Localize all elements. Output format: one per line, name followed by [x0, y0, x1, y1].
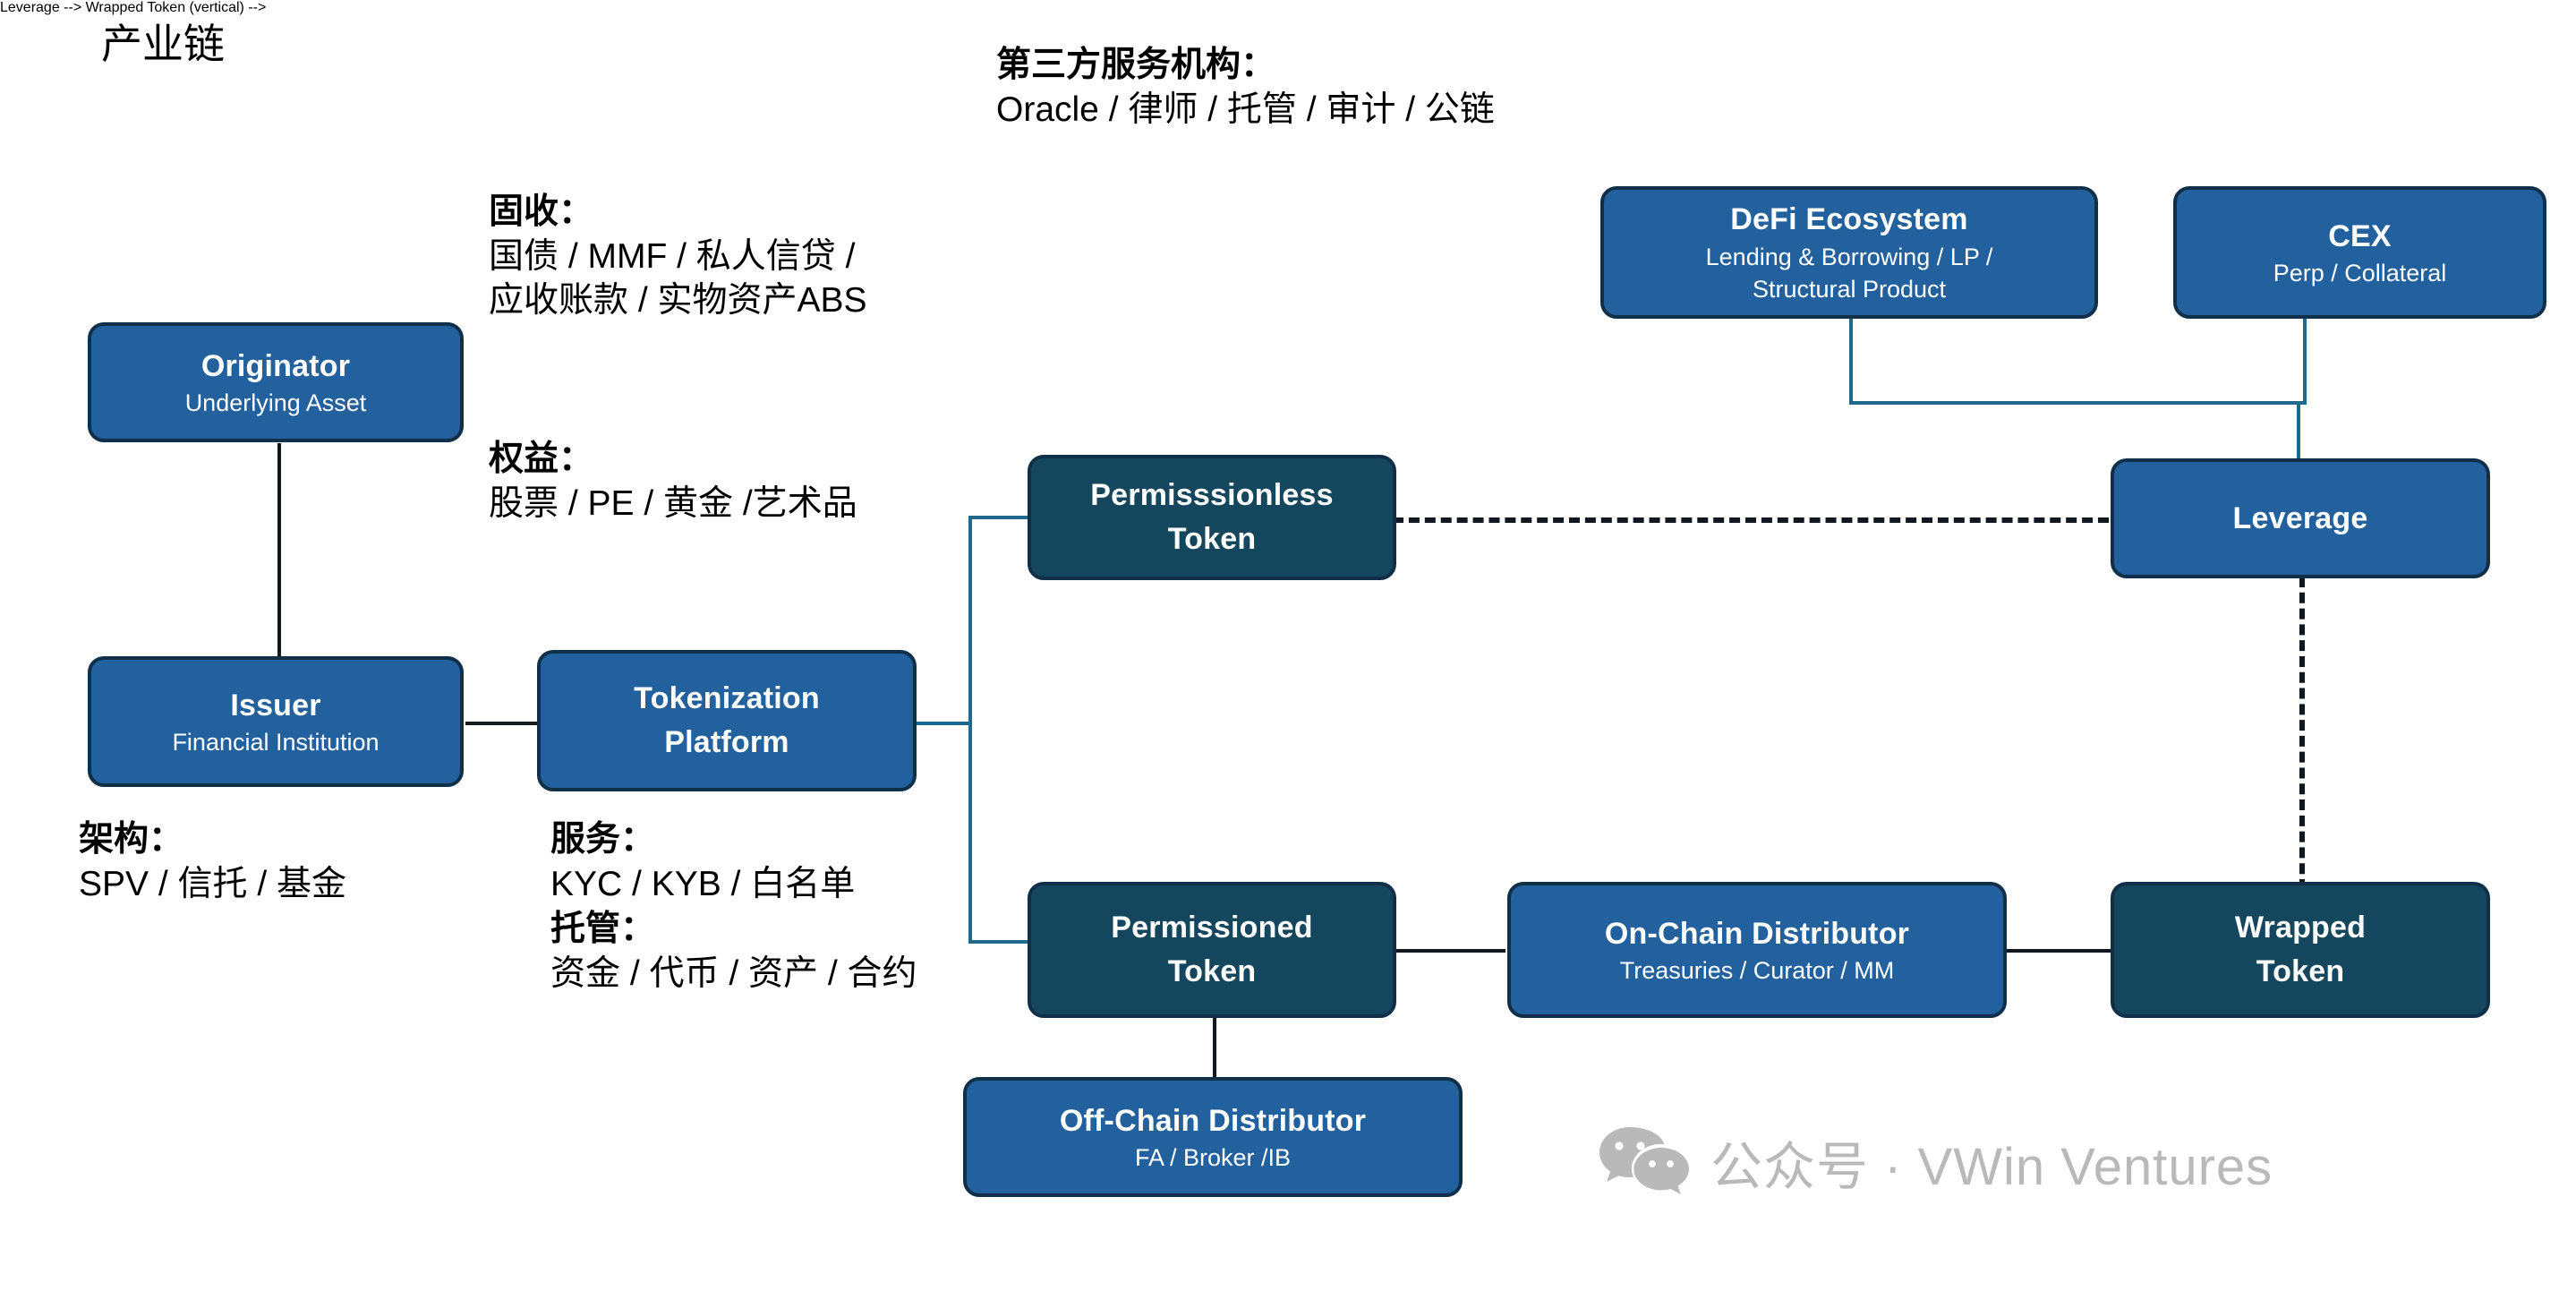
annotation-equity: 权益： 股票 / PE / 黄金 /艺术品 — [489, 437, 865, 526]
node-defi-ecosystem-subtitle-line1: Lending & Borrowing / LP / — [1706, 242, 1993, 273]
edge-defi-down — [1849, 315, 1853, 403]
node-originator[interactable]: Originator Underlying Asset — [88, 322, 464, 442]
edge-cex-down — [2303, 315, 2307, 403]
annotation-custody-body: 资金 / 代币 / 资产 / 合约 — [550, 952, 944, 996]
node-tokenization-platform-title-line1: Tokenization — [634, 677, 820, 721]
edge-issuer-to-tokenization — [465, 722, 546, 725]
node-wrapped-token[interactable]: Wrapped Token — [2111, 882, 2490, 1018]
node-on-chain-distributor[interactable]: On-Chain Distributor Treasuries / Curato… — [1507, 882, 2007, 1018]
node-cex-subtitle: Perp / Collateral — [2273, 258, 2447, 289]
node-cex-title: CEX — [2328, 217, 2392, 256]
page-title: 产业链 — [101, 21, 225, 68]
annotation-fixed-income-heading: 固收： — [489, 190, 883, 235]
node-tokenization-platform[interactable]: Tokenization Platform — [537, 650, 917, 791]
edge-permissionless-to-leverage — [1393, 517, 2109, 523]
edge-bracket-to-leverage — [2297, 401, 2300, 460]
edge-permissioned-to-offchain — [1213, 1015, 1216, 1080]
annotation-structure-heading: 架构： — [79, 817, 499, 862]
annotation-service: 服务： KYC / KYB / 白名单 — [550, 817, 944, 906]
node-originator-title: Originator — [201, 346, 350, 386]
node-leverage[interactable]: Leverage — [2111, 458, 2490, 578]
node-issuer[interactable]: Issuer Financial Institution — [88, 656, 464, 787]
annotation-third-party: 第三方服务机构： Oracle / 律师 / 托管 / 审计 / 公链 — [996, 43, 1676, 132]
node-off-chain-distributor[interactable]: Off-Chain Distributor FA / Broker /IB — [963, 1077, 1463, 1197]
edge-branch-to-permissionless — [968, 516, 1028, 519]
annotation-service-heading: 服务： — [550, 817, 944, 862]
annotation-third-party-body: Oracle / 律师 / 托管 / 审计 / 公链 — [996, 88, 1676, 133]
node-wrapped-token-title-line1: Wrapped — [2235, 906, 2366, 950]
node-wrapped-token-title-line2: Token — [2256, 950, 2345, 994]
node-issuer-subtitle: Financial Institution — [172, 727, 379, 758]
edge-branch-to-permissioned — [968, 940, 1028, 944]
diagram-canvas: 产业链 第三方服务机构： Oracle / 律师 / 托管 / 审计 / 公链 … — [0, 0, 2576, 1291]
annotation-custody-heading: 托管： — [550, 907, 944, 952]
node-defi-ecosystem-subtitle-line2: Structural Product — [1753, 274, 1946, 305]
node-permissioned-token-title-line1: Permissioned — [1111, 906, 1312, 950]
annotation-fixed-income-body: 国债 / MMF / 私人信贷 / 应收账款 / 实物资产ABS — [489, 235, 883, 323]
edge-originator-to-issuer — [277, 443, 281, 658]
node-permissionless-token[interactable]: Permisssionless Token — [1028, 455, 1396, 580]
node-off-chain-distributor-subtitle: FA / Broker /IB — [1135, 1142, 1291, 1174]
edge-tokenization-to-branch — [915, 722, 970, 725]
node-defi-ecosystem[interactable]: DeFi Ecosystem Lending & Borrowing / LP … — [1600, 186, 2098, 319]
annotation-custody: 托管： 资金 / 代币 / 资产 / 合约 — [550, 907, 944, 996]
edge-leverage-to-wrapped — [2299, 577, 2305, 890]
annotation-third-party-heading: 第三方服务机构： — [996, 43, 1676, 88]
edge-branch-trunk — [968, 516, 972, 944]
node-tokenization-platform-title-line2: Platform — [664, 721, 789, 765]
annotation-structure-body: SPV / 信托 / 基金 — [79, 862, 499, 907]
edge-defi-cex-bracket — [1849, 401, 2307, 405]
annotation-fixed-income: 固收： 国债 / MMF / 私人信贷 / 应收账款 / 实物资产ABS — [489, 190, 883, 323]
node-permissionless-token-title-line1: Permisssionless — [1090, 474, 1333, 517]
watermark-text: 公众号 · VWin Ventures — [1710, 1124, 2273, 1200]
node-off-chain-distributor-title: Off-Chain Distributor — [1060, 1101, 1366, 1141]
edge-onchain-to-wrapped — [2003, 949, 2111, 953]
node-permissionless-token-title-line2: Token — [1168, 517, 1257, 561]
edge-permissioned-to-onchain — [1393, 949, 1506, 953]
node-permissioned-token-title-line2: Token — [1168, 950, 1257, 994]
node-leverage-title: Leverage — [2233, 499, 2368, 538]
annotation-service-body: KYC / KYB / 白名单 — [550, 862, 944, 907]
node-cex[interactable]: CEX Perp / Collateral — [2173, 186, 2546, 319]
watermark: 公众号 · VWin Ventures — [1598, 1124, 2273, 1200]
node-defi-ecosystem-title: DeFi Ecosystem — [1730, 200, 1967, 239]
node-originator-subtitle: Underlying Asset — [185, 388, 367, 419]
annotation-structure: 架构： SPV / 信托 / 基金 — [79, 817, 499, 906]
node-issuer-title: Issuer — [230, 686, 320, 725]
wechat-icon — [1598, 1125, 1691, 1200]
annotation-equity-heading: 权益： — [489, 437, 865, 482]
node-on-chain-distributor-subtitle: Treasuries / Curator / MM — [1620, 955, 1895, 987]
annotation-equity-body: 股票 / PE / 黄金 /艺术品 — [489, 482, 865, 526]
node-on-chain-distributor-title: On-Chain Distributor — [1605, 914, 1909, 953]
node-permissioned-token[interactable]: Permissioned Token — [1028, 882, 1396, 1018]
